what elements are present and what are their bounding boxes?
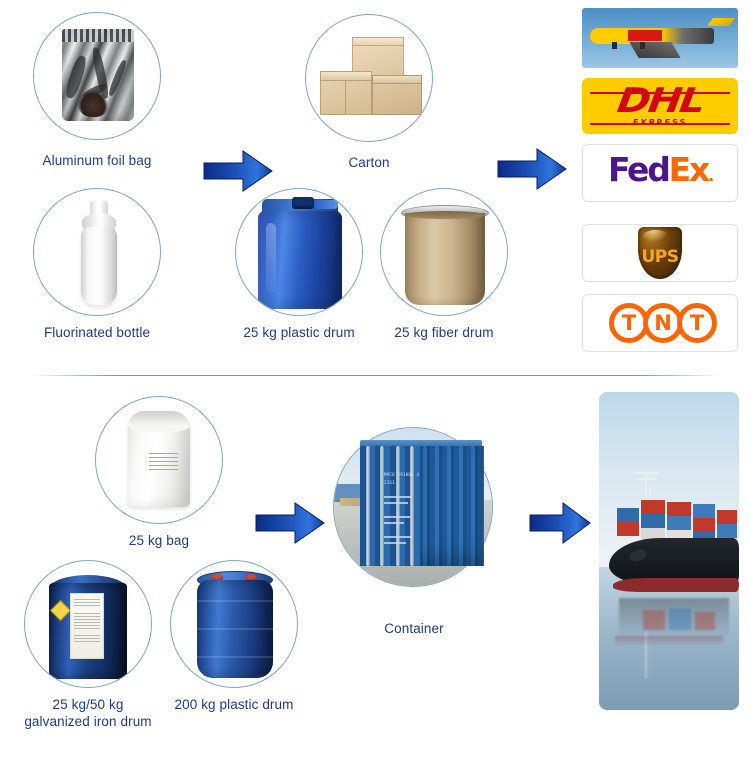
carton-caption: Carton [285,154,453,171]
courier-logo-dhl-aircraft [582,8,738,68]
courier-logo-dhl-express[interactable]: DHL EXPRESS [582,78,738,134]
iron-drum-photo [43,575,135,679]
arrow-inner-to-outer [203,148,273,194]
white-bottle-photo [78,201,120,307]
fedex-fed-text: Fed [608,150,669,189]
fedex-ex-text: Ex [669,150,708,189]
container-caption: Container [330,620,498,637]
packaging-shipping-infographic: Aluminum foil bag Fluorinated bottle [0,0,750,765]
tnt-letter-1: T [622,313,636,334]
plastic-drum-25kg-caption: 25 kg plastic drum [215,324,383,341]
aluminum-foil-bag-circle [33,12,161,140]
fedex-registered-dot: . [708,166,712,185]
dhl-band: DHL EXPRESS [582,78,738,134]
courier-logo-ups[interactable]: UPS [582,224,738,282]
container-marking-line1: MPCU 291006 4 [384,472,419,477]
container-circle: MPCU 291006 4 22G1 [333,427,493,587]
plastic-drum-200kg-caption: 200 kg plastic drum [150,696,318,713]
ups-wordmark: UPS [641,247,678,279]
bag-25kg-caption: 25 kg bag [75,532,243,549]
tnt-letter-2: N [654,313,672,334]
blue-200kg-drum-photo [187,571,283,681]
foil-bag-photo [62,29,134,121]
tnt-letter-3: T [690,313,704,334]
plastic-drum-200kg-circle [170,560,298,688]
arrow-outer-to-courier [497,146,567,192]
plastic-drum-25kg-circle [235,188,363,316]
blue-jerry-can-photo [252,197,348,311]
fedex-wordmark: FedEx. [608,153,712,193]
drum-label [70,593,104,659]
sack-print [149,453,178,469]
tnt-ring-3: T [677,303,717,343]
dhl-wordmark: DHL [615,86,705,116]
fiber-drum-photo [397,205,493,307]
bag-25kg-circle [95,396,223,524]
arrow-packing-to-container [255,500,325,546]
tnt-wordmark: T N T [609,303,711,343]
ship-hull-waterline [613,578,739,592]
galvanized-iron-drum-caption: 25 kg/50 kg galvanized iron drum [2,696,174,730]
carton-boxes-photo [318,35,424,127]
courier-logo-fedex[interactable]: FedEx. [582,144,738,202]
fluorinated-bottle-caption: Fluorinated bottle [13,324,181,341]
aluminum-foil-bag-caption: Aluminum foil bag [13,152,181,169]
fiber-drum-25kg-circle [380,188,508,316]
courier-logo-tnt[interactable]: T N T [582,294,738,352]
carton-circle [305,14,433,142]
fluorinated-bottle-circle [33,188,161,316]
ups-shield-icon: UPS [638,227,682,279]
fiber-drum-25kg-caption: 25 kg fiber drum [360,324,528,341]
shipping-container-photo: MPCU 291006 4 22G1 [356,440,484,572]
woven-sack-photo [128,411,190,507]
container-ship-photo [599,392,739,710]
container-marking-line2: 22G1 [384,480,395,485]
section-divider [30,375,722,376]
arrow-container-to-ship [529,500,591,546]
galvanized-iron-drum-circle [24,560,152,688]
